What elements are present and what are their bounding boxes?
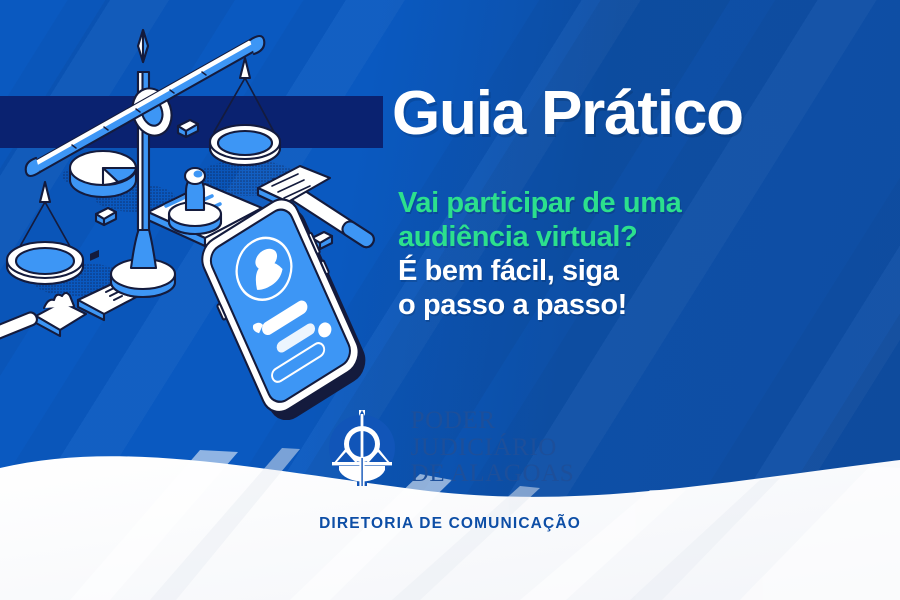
logo-word-line-1: PODER bbox=[411, 408, 575, 435]
poster-question: Vai participar de uma audiência virtual? bbox=[398, 186, 681, 254]
logo-lockup: PODER JUDICIÁRIO DE ALAGOAS bbox=[326, 408, 575, 488]
poster-canvas: Guia Prático Vai participar de uma audiê… bbox=[0, 0, 900, 600]
answer-line-1: É bem fácil, siga bbox=[398, 254, 627, 288]
department-label: DIRETORIA DE COMUNICAÇÃO bbox=[319, 515, 581, 533]
question-line-1: Vai participar de uma bbox=[398, 186, 681, 220]
poster-headline: Guia Prático bbox=[392, 83, 743, 145]
logo-word-line-2: JUDICIÁRIO bbox=[411, 435, 575, 462]
logo-wordmark: PODER JUDICIÁRIO DE ALAGOAS bbox=[411, 408, 575, 488]
tube-object bbox=[0, 311, 39, 343]
footer-branding: PODER JUDICIÁRIO DE ALAGOAS DIRETORIA DE… bbox=[0, 408, 900, 533]
logo-word-line-3: DE ALAGOAS bbox=[411, 461, 575, 488]
weight-small-b bbox=[96, 208, 116, 225]
poder-judiciario-emblem-icon bbox=[326, 408, 398, 488]
poster-answer: É bem fácil, siga o passo a passo! bbox=[398, 254, 627, 322]
question-line-2: audiência virtual? bbox=[398, 220, 681, 254]
weight-small-a bbox=[178, 120, 198, 137]
answer-line-2: o passo a passo! bbox=[398, 288, 627, 322]
pie-chart-object bbox=[70, 151, 136, 197]
